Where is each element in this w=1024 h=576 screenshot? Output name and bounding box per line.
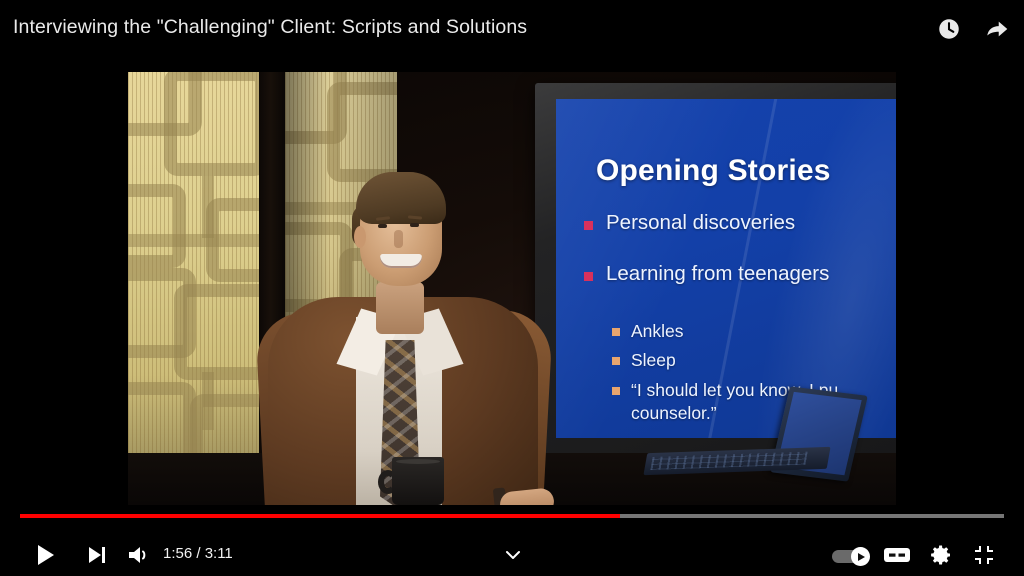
clock-icon[interactable] <box>936 16 962 42</box>
top-action-buttons <box>936 16 1010 42</box>
play-triangle-icon <box>858 553 865 561</box>
captions-button[interactable] <box>877 535 917 575</box>
progress-bar[interactable] <box>20 514 1004 518</box>
play-button[interactable] <box>26 535 66 575</box>
presenter <box>268 112 568 505</box>
hair <box>356 172 446 224</box>
video-frame[interactable]: Opening Stories Personal discoveries Lea… <box>128 72 896 505</box>
exit-fullscreen-button[interactable] <box>964 535 1004 575</box>
slide-screen: Opening Stories Personal discoveries Lea… <box>556 99 896 438</box>
slide-bullet-list: Personal discoveries Learning from teena… <box>584 211 896 286</box>
autoplay-knob <box>851 547 870 566</box>
volume-icon[interactable] <box>119 535 159 575</box>
neck <box>376 282 424 334</box>
laptop-keyboard <box>650 452 807 470</box>
nose <box>394 230 403 248</box>
time-display: 1:56 / 3:11 <box>163 545 233 562</box>
autoplay-toggle[interactable] <box>832 546 874 566</box>
chevron-down-icon[interactable] <box>500 543 526 567</box>
slide-bullet-text: Personal discoveries <box>606 211 795 235</box>
video-player: Interviewing the "Challenging" Client: S… <box>0 0 1024 576</box>
bullet-square-icon <box>584 221 593 230</box>
share-arrow-icon[interactable] <box>984 16 1010 42</box>
mouth <box>380 254 422 268</box>
player-title-bar: Interviewing the "Challenging" Client: S… <box>0 0 1024 58</box>
slide-sub-bullet-text: Sleep <box>631 349 676 372</box>
progress-played <box>20 514 620 518</box>
bullet-square-icon <box>584 272 593 281</box>
slide-title: Opening Stories <box>596 154 831 188</box>
eye-right <box>410 223 419 227</box>
player-controls: 1:56 / 3:11 <box>0 505 1024 576</box>
slide-sub-bullet-item: Sleep <box>612 349 896 372</box>
video-title[interactable]: Interviewing the "Challenging" Client: S… <box>13 16 527 39</box>
sub-bullet-square-icon <box>612 328 620 336</box>
control-button-row: 1:56 / 3:11 <box>0 535 1024 576</box>
curtain-panel-left <box>128 72 259 505</box>
slide-bullet-text: Learning from teenagers <box>606 262 829 286</box>
slide-bullet-item: Personal discoveries <box>584 211 896 235</box>
coffee-mug <box>392 457 444 505</box>
next-video-button[interactable] <box>77 535 117 575</box>
sub-bullet-square-icon <box>612 387 620 395</box>
ear <box>354 226 366 248</box>
slide-bullet-item: Learning from teenagers <box>584 262 896 286</box>
sub-bullet-square-icon <box>612 357 620 365</box>
settings-gear-icon[interactable] <box>921 535 961 575</box>
eye-left <box>378 224 387 228</box>
slide-sub-bullet-item: Ankles <box>612 320 896 343</box>
slide-sub-bullet-text: Ankles <box>631 320 684 343</box>
